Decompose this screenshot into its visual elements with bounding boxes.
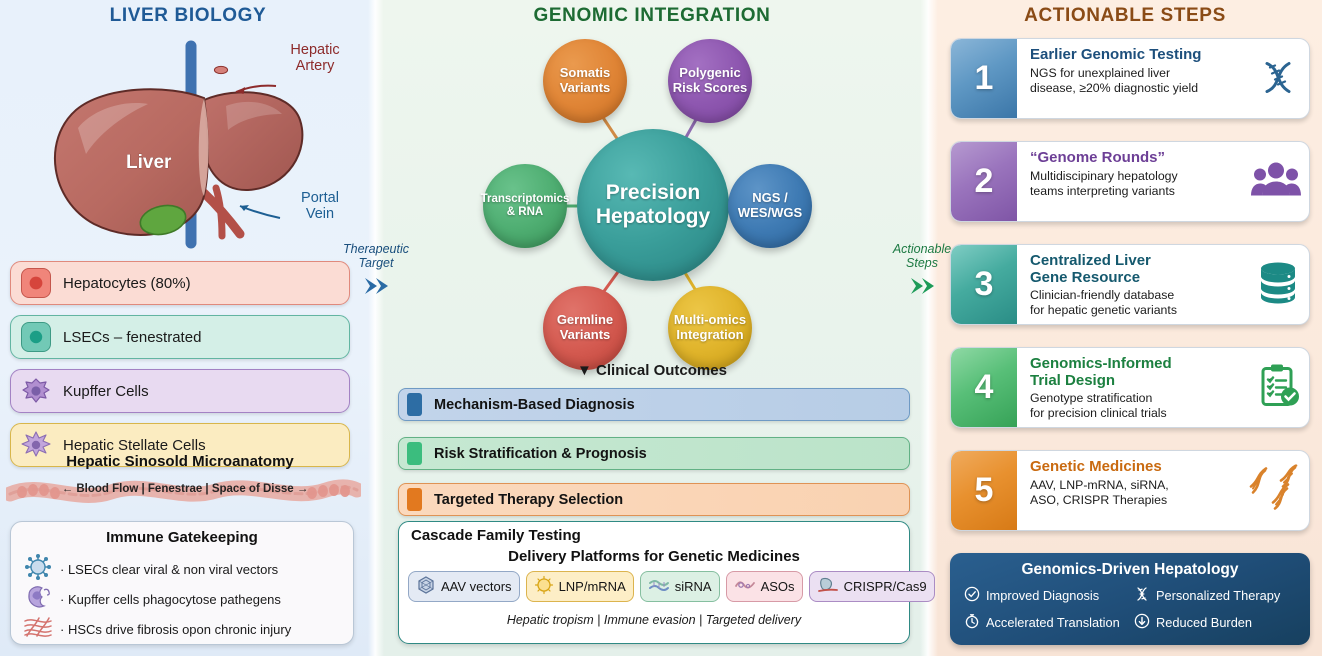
summary-item-grid: Improved Diagnosis Personalized Therapy	[964, 586, 1298, 632]
sirna-strand-icon	[648, 577, 670, 596]
outcome-color-bar	[407, 488, 422, 511]
outcome-risk-stratification-prognosis[interactable]: Risk Stratification & Prognosis	[398, 437, 910, 470]
delivery-platforms-title: Delivery Platforms for Genetic Medicines	[399, 548, 909, 565]
step-card-centralized-liver-gene-resource[interactable]: 3 Centralized Liver Gene Resource Clinic…	[950, 244, 1310, 325]
node-line2: Risk Scores	[673, 80, 747, 95]
hub-center-line2: Hepatology	[596, 205, 710, 228]
stopwatch-icon	[964, 613, 980, 632]
dna-helix-icon	[1255, 53, 1301, 104]
lipid-nanoparticle-icon	[534, 575, 554, 598]
immune-item: · HSCs drive fibrosis opon chronic injur…	[23, 614, 291, 645]
summary-banner: Genomics-Driven Hepatology Improved Diag…	[950, 553, 1310, 645]
cell-label: Kupffer Cells	[63, 383, 149, 400]
step-number: 5	[951, 451, 1017, 530]
check-circle-icon	[964, 586, 980, 605]
cas9-nuclease-icon	[817, 576, 839, 597]
node-line1: NGS /	[752, 190, 787, 205]
hub-node-somatic-variants[interactable]: Somatis Variants	[543, 39, 627, 123]
aav-capsid-icon	[416, 575, 436, 598]
hub-center-line1: Precision	[606, 181, 701, 204]
immune-item: · Kupffer cells phagocytose pathegens	[23, 584, 281, 615]
cell-row-kupffer-cells[interactable]: Kupffer Cells	[10, 369, 350, 413]
delivery-platform-chip-list: AAV vectors LNP/mRNA	[408, 571, 902, 602]
immune-item-label: · LSECs clear viral & non viral vectors	[60, 562, 278, 577]
cascade-family-testing-title: Cascade Family Testing	[411, 527, 581, 544]
node-line2: Integration	[676, 327, 743, 342]
chip-label: CRISPR/Cas9	[844, 579, 927, 594]
portal-vein-label: PortalVein	[280, 190, 360, 222]
step-number: 2	[951, 142, 1017, 221]
people-group-icon	[1251, 159, 1301, 204]
cascade-footer-note: Hepatic tropism | Immune evasion | Targe…	[399, 613, 909, 627]
cell-label: LSECs – fenestrated	[63, 329, 201, 346]
node-line1: Somatis	[560, 65, 611, 80]
chip-label: AAV vectors	[441, 579, 512, 594]
database-icon	[1255, 260, 1301, 309]
kupffer-cell-icon	[21, 376, 51, 406]
node-line2: Variants	[560, 327, 611, 342]
arrow-down-circle-icon	[1134, 613, 1150, 632]
step-number: 1	[951, 39, 1017, 118]
hub-node-transcriptomics-rna[interactable]: Transcriptomics & RNA	[483, 164, 567, 248]
chip-lnp-mrna[interactable]: LNP/mRNA	[526, 571, 634, 602]
chip-aav-vectors[interactable]: AAV vectors	[408, 571, 520, 602]
node-line1: Transcriptomics	[481, 193, 570, 205]
step-card-genomics-informed-trial-design[interactable]: 4 Genomics-Informed Trial Design Genotyp…	[950, 347, 1310, 428]
summary-item-improved-diagnosis: Improved Diagnosis	[964, 586, 1128, 605]
summary-title: Genomics-Driven Hepatology	[950, 561, 1310, 579]
step-card-genome-rounds[interactable]: 2 “Genome Rounds” Multidiscipinary hepat…	[950, 141, 1310, 222]
immune-item-label: · Kupffer cells phagocytose pathegens	[60, 592, 281, 607]
cascade-family-testing-box: Cascade Family Testing Delivery Platform…	[398, 521, 910, 644]
outcome-mechanism-based-diagnosis[interactable]: Mechanism-Based Diagnosis	[398, 388, 910, 421]
step-card-earlier-genomic-testing[interactable]: 1 Earlier Genomic Testing NGS for unexpl…	[950, 38, 1310, 119]
node-line2: Variants	[560, 80, 611, 95]
chip-sirna[interactable]: siRNA	[640, 571, 720, 602]
summary-item-label: Reduced Burden	[1156, 615, 1252, 630]
node-line1: Germline	[557, 312, 613, 327]
clipboard-check-icon	[1257, 362, 1301, 413]
dna-target-icon	[1134, 586, 1150, 605]
outcome-color-bar	[407, 442, 422, 465]
hub-node-multi-omics-integration[interactable]: Multi-omics Integration	[668, 286, 752, 370]
summary-item-label: Improved Diagnosis	[986, 588, 1099, 603]
immune-gatekeeping-box: Immune Gatekeeping	[10, 521, 354, 645]
outcome-label: Mechanism-Based Diagnosis	[434, 397, 635, 413]
summary-item-personalized-therapy: Personalized Therapy	[1134, 586, 1298, 605]
immune-item-label: · HSCs drive fibrosis opon chronic injur…	[60, 622, 291, 637]
summary-item-accelerated-translation: Accelerated Translation	[964, 613, 1128, 632]
outcome-color-bar	[407, 393, 422, 416]
hepatocyte-icon	[21, 268, 51, 298]
summary-item-label: Accelerated Translation	[986, 615, 1120, 630]
chip-asos[interactable]: ASOs	[726, 571, 803, 602]
svg-text:Liver: Liver	[126, 152, 172, 173]
hub-node-ngs-wes-wgs[interactable]: NGS / WES/WGS	[728, 164, 812, 248]
panel-title-liver-biology: LIVER BIOLOGY	[0, 5, 376, 27]
immune-gatekeeping-title: Immune Gatekeeping	[11, 529, 353, 546]
outcome-label: Risk Stratification & Prognosis	[434, 446, 647, 462]
summary-item-label: Personalized Therapy	[1156, 588, 1280, 603]
summary-item-reduced-burden: Reduced Burden	[1134, 613, 1298, 632]
clinical-outcomes-header: ▼ Clinical Outcomes	[376, 362, 928, 379]
node-line1: Polygenic	[679, 65, 740, 80]
outcome-label: Targeted Therapy Selection	[434, 492, 623, 508]
cell-label: Hepatic Stellate Cells	[63, 437, 206, 454]
cell-row-hepatocytes[interactable]: Hepatocytes (80%)	[10, 261, 350, 305]
aso-strand-icon	[734, 577, 756, 596]
step-number: 3	[951, 245, 1017, 324]
sinusoid-title: Hepatic Sinosold Microanatomy	[10, 453, 350, 470]
step-card-genetic-medicines[interactable]: 5 Genetic Medicines AAV, LNP-mRNA, siRNA…	[950, 450, 1310, 531]
precision-hepatology-hub: Precision Hepatology Somatis Variants Po…	[376, 24, 928, 354]
chip-crispr-cas9[interactable]: CRISPR/Cas9	[809, 571, 935, 602]
fibrosis-fibers-icon	[23, 614, 53, 645]
node-line2: WES/WGS	[738, 205, 802, 220]
hub-node-polygenic-risk-scores[interactable]: Polygenic Risk Scores	[668, 39, 752, 123]
macrophage-icon	[23, 584, 53, 615]
cell-label: Hepatocytes (80%)	[63, 275, 191, 292]
chip-label: LNP/mRNA	[559, 579, 626, 594]
hepatic-artery-label: HepaticArtery	[272, 42, 358, 74]
node-line1: Multi-omics	[674, 312, 746, 327]
hub-center-node[interactable]: Precision Hepatology	[577, 129, 729, 281]
chip-label: siRNA	[675, 579, 712, 594]
infographic-stage: LIVER BIOLOGY GENOMIC INTEGRATION ACTION…	[0, 0, 1322, 656]
outcome-targeted-therapy-selection[interactable]: Targeted Therapy Selection	[398, 483, 910, 516]
cell-row-lsecs[interactable]: LSECs – fenestrated	[10, 315, 350, 359]
virus-particle-icon	[23, 554, 53, 585]
sinusoid-caption: ← Blood Flow | Fenestrae | Space of Diss…	[50, 483, 320, 495]
immune-item: · LSECs clear viral & non viral vectors	[23, 554, 278, 585]
panel-title-actionable-steps: ACTIONABLE STEPS	[928, 5, 1322, 27]
step-number: 4	[951, 348, 1017, 427]
node-line2: & RNA	[507, 206, 543, 218]
chip-label: ASOs	[761, 579, 795, 594]
hub-node-germline-variants[interactable]: Germline Variants	[543, 286, 627, 370]
lsec-icon	[21, 322, 51, 352]
double-helix-icon	[1247, 464, 1301, 517]
